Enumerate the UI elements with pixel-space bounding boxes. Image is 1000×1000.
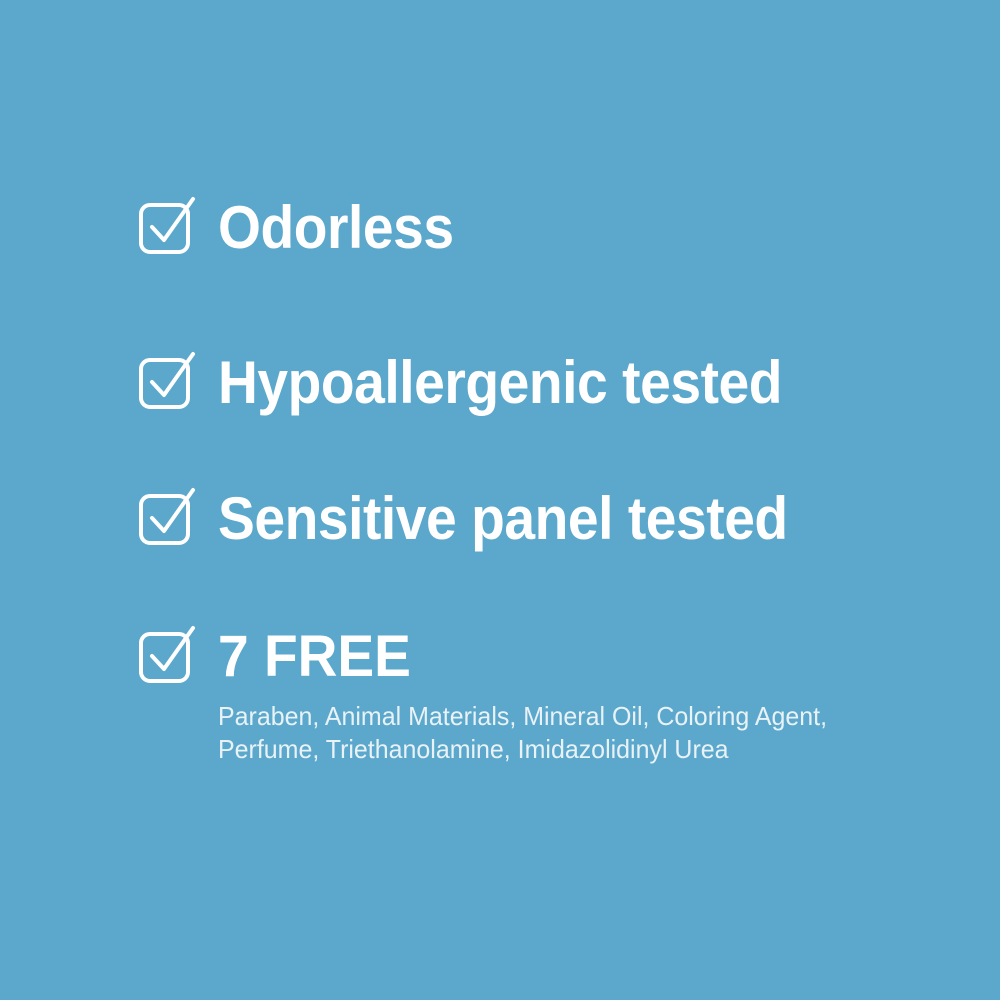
feature-text-column: Sensitive panel tested [218,487,837,549]
free-from-line-2: Perfume, Triethanolamine, Imidazolidinyl… [218,733,827,766]
feature-row-odorless: Odorless [138,196,938,351]
checkbox-checked-icon [138,351,196,413]
feature-label: Sensitive panel tested [218,489,788,549]
checkbox-checked-icon [138,196,196,258]
feature-list: Odorless Hypoallergenic tested [138,196,938,766]
feature-row-hypoallergenic-tested: Hypoallergenic tested [138,351,938,487]
checkbox-checked-icon [138,625,196,687]
free-from-ingredient-list: Paraben, Animal Materials, Mineral Oil, … [218,700,827,766]
feature-text-column: Odorless [218,196,474,258]
feature-text-column: Hypoallergenic tested [218,351,831,413]
feature-row-sensitive-panel-tested: Sensitive panel tested [138,487,938,625]
feature-label: Hypoallergenic tested [218,353,782,413]
feature-text-column: 7 FREE Paraben, Animal Materials, Minera… [218,625,852,766]
product-feature-poster: Odorless Hypoallergenic tested [0,0,1000,1000]
free-from-line-1: Paraben, Animal Materials, Mineral Oil, … [218,700,827,733]
checkbox-checked-icon [138,487,196,549]
feature-row-7-free: 7 FREE Paraben, Animal Materials, Minera… [138,625,938,766]
feature-label: 7 FREE [218,627,821,687]
feature-label: Odorless [218,198,454,258]
